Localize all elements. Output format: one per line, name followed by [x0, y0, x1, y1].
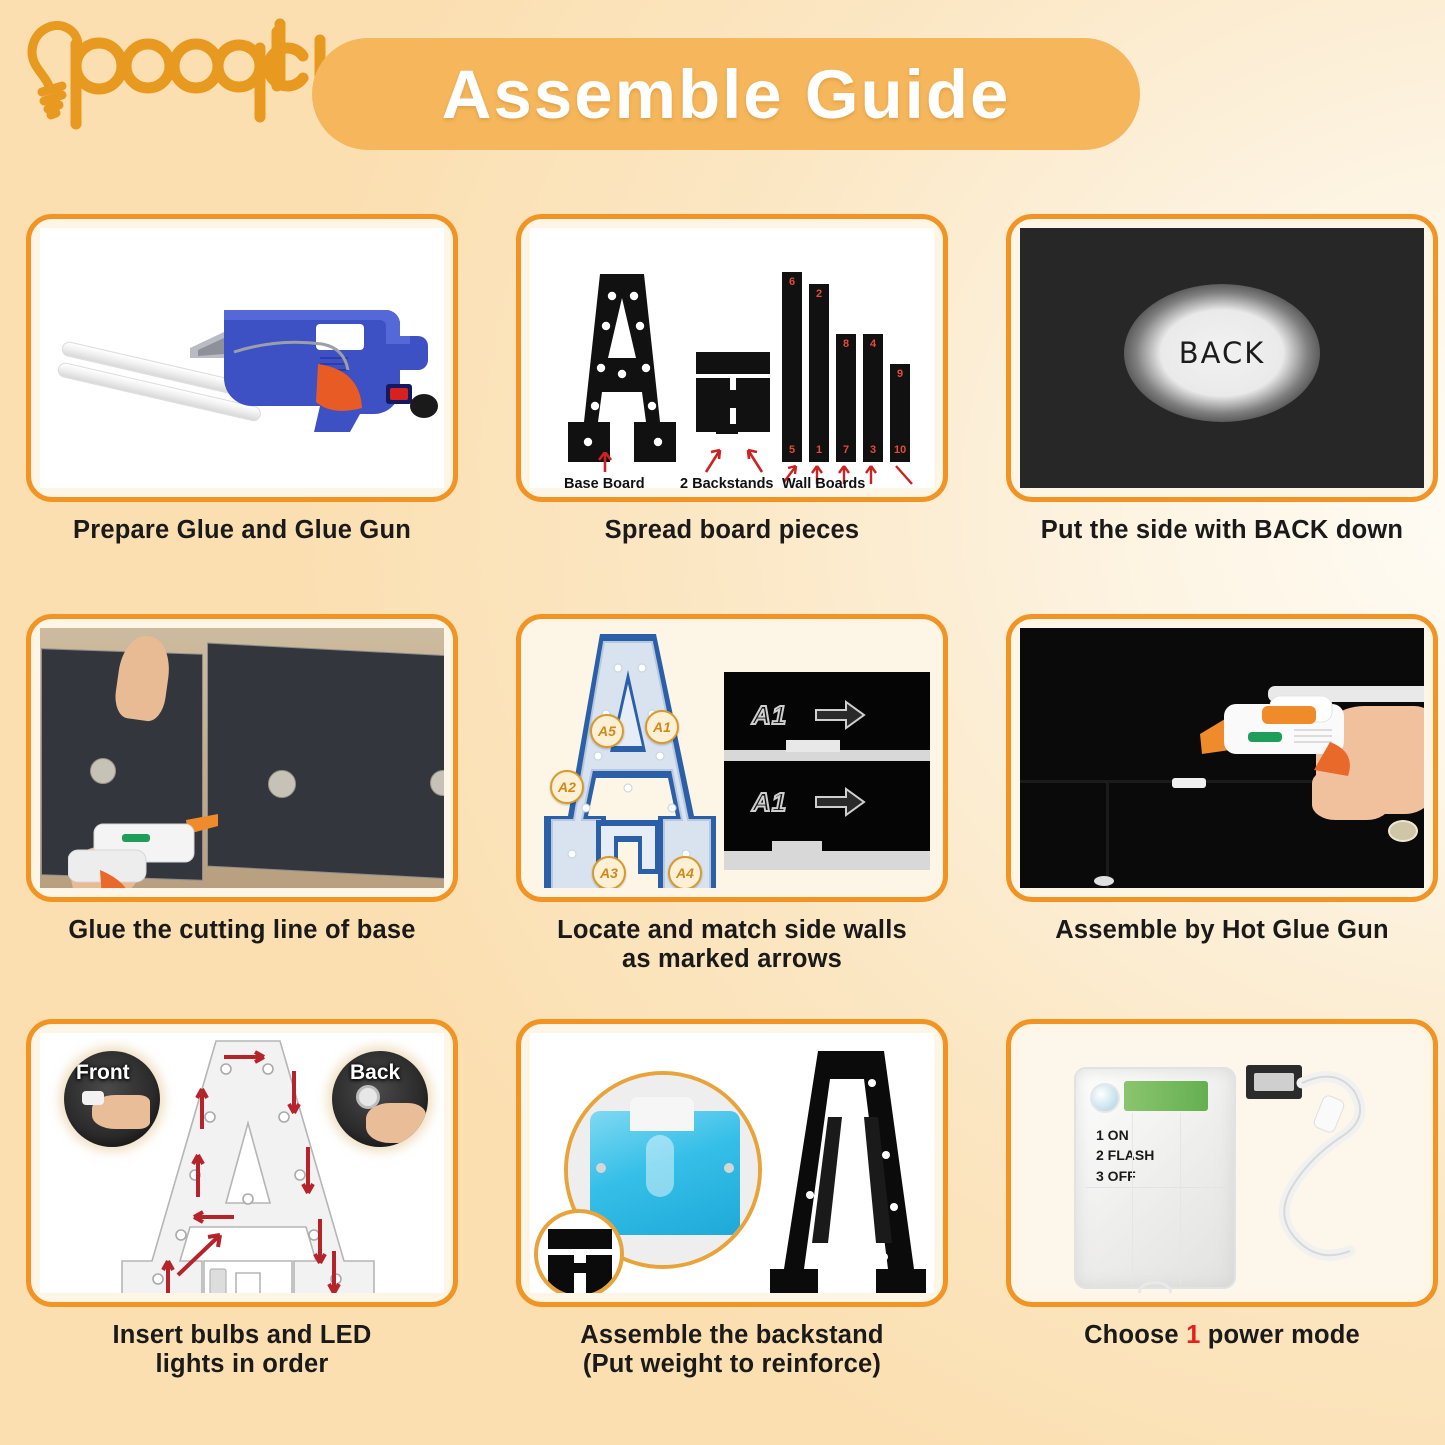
power-mode-photo: 1 ON 2 FLASH 3 OFF [1020, 1033, 1424, 1293]
spotlight-glow: BACK [1124, 284, 1320, 422]
step-7-caption: Insert bulbs and LED lights in order [26, 1321, 458, 1380]
wall-board-number: 10 [894, 444, 906, 456]
side-wall-marker-diagram: A5 A1 A2 A3 A4 A1 [530, 628, 934, 888]
battery-divider [1132, 1113, 1133, 1285]
back-label: Back [350, 1061, 400, 1085]
step-card-2: Base Board 2 Backstands [516, 214, 948, 545]
power-mode-list: 1 ON 2 FLASH 3 OFF [1096, 1125, 1154, 1186]
bag-handle [630, 1097, 694, 1131]
a1-arrow-row-top: A1 [724, 672, 930, 771]
bulb-hole-pad [268, 770, 296, 798]
brand-logo [18, 14, 288, 134]
step-card-7: Front Back Insert bulbs and LED lights i… [26, 1019, 458, 1380]
step-card-9: 1 ON 2 FLASH 3 OFF [1006, 1019, 1438, 1350]
step-6-caption: Assemble by Hot Glue Gun [1006, 916, 1438, 945]
a1-arrow-row-bottom: A1 [724, 771, 930, 870]
step-9-caption-prefix: Choose [1084, 1321, 1186, 1349]
bulb-hole [596, 1163, 606, 1173]
front-label: Front [76, 1061, 130, 1085]
board-pieces-layout-image: Base Board 2 Backstands [530, 228, 934, 488]
bulb-order-diagram: Front Back [40, 1033, 444, 1293]
backstand-piece-closeup [534, 1209, 624, 1293]
step-3-image-frame: BACK [1006, 214, 1438, 502]
board-pieces-diagram: Base Board 2 Backstands [530, 228, 934, 488]
step-7-caption-line1: Insert bulbs and LED [26, 1321, 458, 1350]
dark-board-surface: BACK [1020, 228, 1424, 488]
bulb-hole [724, 1163, 734, 1173]
backstand-piece [548, 1229, 612, 1249]
backstand-piece [572, 1263, 588, 1273]
white-glue-gun-icon [68, 814, 218, 888]
step-7-image-frame: Front Back [26, 1019, 458, 1307]
step-1-image-frame [26, 214, 458, 502]
power-switch[interactable] [1090, 1083, 1120, 1113]
steps-grid: Prepare Glue and Glue Gun [0, 200, 1445, 1445]
bulb [82, 1091, 104, 1105]
battery-divider [1180, 1113, 1181, 1285]
back-bulb-inset: Back [332, 1051, 428, 1147]
backstand-piece [696, 352, 770, 374]
lanyard-loop [1138, 1281, 1172, 1293]
wall-board-strip [809, 284, 829, 462]
step-8-caption-line2: (Put weight to reinforce) [516, 1350, 948, 1379]
step-2-image-frame: Base Board 2 Backstands [516, 214, 948, 502]
step-4-caption: Glue the cutting line of base [26, 916, 458, 945]
step-8-image-frame [516, 1019, 948, 1307]
step-9-caption: Choose 1 power mode [1006, 1321, 1438, 1350]
glue-base-photo [40, 628, 444, 888]
wall-board-number: 2 [816, 288, 822, 300]
marker-a2: A2 [550, 770, 584, 804]
step-card-3: BACK Put the side with BACK down [1006, 214, 1438, 545]
marker-a4: A4 [668, 856, 702, 888]
marker-a3: A3 [592, 856, 626, 888]
step-9-image-frame: 1 ON 2 FLASH 3 OFF [1006, 1019, 1438, 1307]
marker-a5: A5 [590, 714, 624, 748]
backstand-diagram [530, 1033, 934, 1293]
case-seam [1086, 1187, 1228, 1188]
arrow-up-icon [744, 448, 766, 474]
usb-cable-icon [1234, 1057, 1410, 1293]
lightbulb-icon [18, 14, 288, 134]
a1-label: A1 [752, 787, 787, 818]
a1-arrow-photo: A1 A1 [724, 672, 930, 870]
letter-a-with-side-walls-icon [538, 630, 718, 888]
step-5-image-frame: A5 A1 A2 A3 A4 A1 [516, 614, 948, 902]
step-card-4: Glue the cutting line of base [26, 614, 458, 945]
wall-board-number: 9 [897, 368, 903, 380]
board-edge [724, 851, 930, 870]
glue-gun-icon [190, 266, 444, 446]
arrow-up-icon [596, 452, 614, 476]
step-4-image-frame [26, 614, 458, 902]
step-5-caption-line1: Locate and match side walls [516, 916, 948, 945]
wall-board-number: 5 [789, 444, 795, 456]
board-tab [772, 841, 822, 853]
page-title-banner: Assemble Guide [312, 38, 1140, 150]
step-9-caption-suffix: power mode [1200, 1321, 1359, 1349]
base-board-label: Base Board [564, 476, 645, 488]
step-9-caption-highlight: 1 [1186, 1321, 1200, 1349]
hand [366, 1103, 426, 1143]
wall-board-number: 8 [843, 338, 849, 350]
step-5-caption: Locate and match side walls as marked ar… [516, 916, 948, 975]
step-1-caption: Prepare Glue and Glue Gun [26, 516, 458, 545]
wall-boards-label: Wall Boards [782, 476, 865, 488]
step-card-6: Assemble by Hot Glue Gun [1006, 614, 1438, 945]
step-3-caption: Put the side with BACK down [1006, 516, 1438, 545]
back-marking-text: BACK [1179, 336, 1266, 370]
step-2-caption: Spread board pieces [516, 516, 948, 545]
battery-box-and-usb-cable-image: 1 ON 2 FLASH 3 OFF [1020, 1033, 1424, 1293]
base-board-right [208, 644, 444, 879]
coin-weight [1388, 820, 1418, 842]
marker-a1: A1 [645, 710, 679, 744]
front-bulb-inset: Front [64, 1051, 160, 1147]
step-card-5: A5 A1 A2 A3 A4 A1 [516, 614, 948, 975]
power-mode-off: 3 OFF [1096, 1166, 1154, 1186]
back-side-marking-image: BACK [1020, 228, 1424, 488]
page-title: Assemble Guide [442, 60, 1011, 129]
blue-glue-gun-and-glue-sticks-image [40, 228, 444, 488]
step-8-caption-line1: Assemble the backstand [516, 1321, 948, 1350]
step-card-8: Assemble the backstand (Put weight to re… [516, 1019, 948, 1380]
step-8-caption: Assemble the backstand (Put weight to re… [516, 1321, 948, 1380]
wall-board-strip [836, 334, 856, 462]
board-tab [786, 740, 840, 752]
bag-highlight [646, 1135, 674, 1197]
arrow-up-icon [702, 448, 724, 474]
assembled-backstand-icon [768, 1047, 928, 1293]
wall-board-number: 4 [870, 338, 876, 350]
wall-board-strip [863, 334, 883, 462]
glue-dot [1094, 876, 1114, 886]
wall-board-number: 1 [816, 444, 822, 456]
base-board-letter-a-icon [568, 274, 676, 462]
board-seam [1106, 780, 1109, 888]
letter-a-side-wall-markers-image: A5 A1 A2 A3 A4 A1 [530, 628, 934, 888]
wall-board-number: 3 [870, 444, 876, 456]
insert-bulbs-order-diagram-image: Front Back [40, 1033, 444, 1293]
power-mode-flash: 2 FLASH [1096, 1145, 1154, 1165]
a1-label: A1 [752, 700, 787, 731]
wall-board-number: 6 [789, 276, 795, 288]
glue-drop [1172, 778, 1206, 788]
backstand-piece [586, 1255, 612, 1293]
power-mode-on: 1 ON [1096, 1125, 1154, 1145]
arrow-right-icon [814, 700, 868, 730]
step-card-1: Prepare Glue and Glue Gun [26, 214, 458, 545]
step-6-image-frame [1006, 614, 1438, 902]
bulb [356, 1085, 380, 1109]
page-header: Assemble Guide [0, 0, 1445, 190]
bulb-hole-pad [90, 758, 116, 784]
wall-board-strip [782, 272, 802, 462]
backstands-label: 2 Backstands [680, 476, 774, 488]
battery-box: 1 ON 2 FLASH 3 OFF [1074, 1067, 1236, 1289]
backstand-piece [548, 1255, 574, 1293]
step-5-caption-line2: as marked arrows [516, 945, 948, 974]
backstand-piece [736, 378, 770, 432]
hot-glue-photo [1020, 628, 1424, 888]
arrow-right-icon [814, 787, 868, 817]
backstand-piece [716, 424, 738, 434]
circuit-board [1124, 1081, 1208, 1111]
hot-glue-gun-in-hand-image [1020, 628, 1424, 888]
wall-board-number: 7 [843, 444, 849, 456]
backstand-with-water-bag-weight-image [530, 1033, 934, 1293]
step-7-caption-line2: lights in order [26, 1350, 458, 1379]
gluing-base-cutting-line-image [40, 628, 444, 888]
